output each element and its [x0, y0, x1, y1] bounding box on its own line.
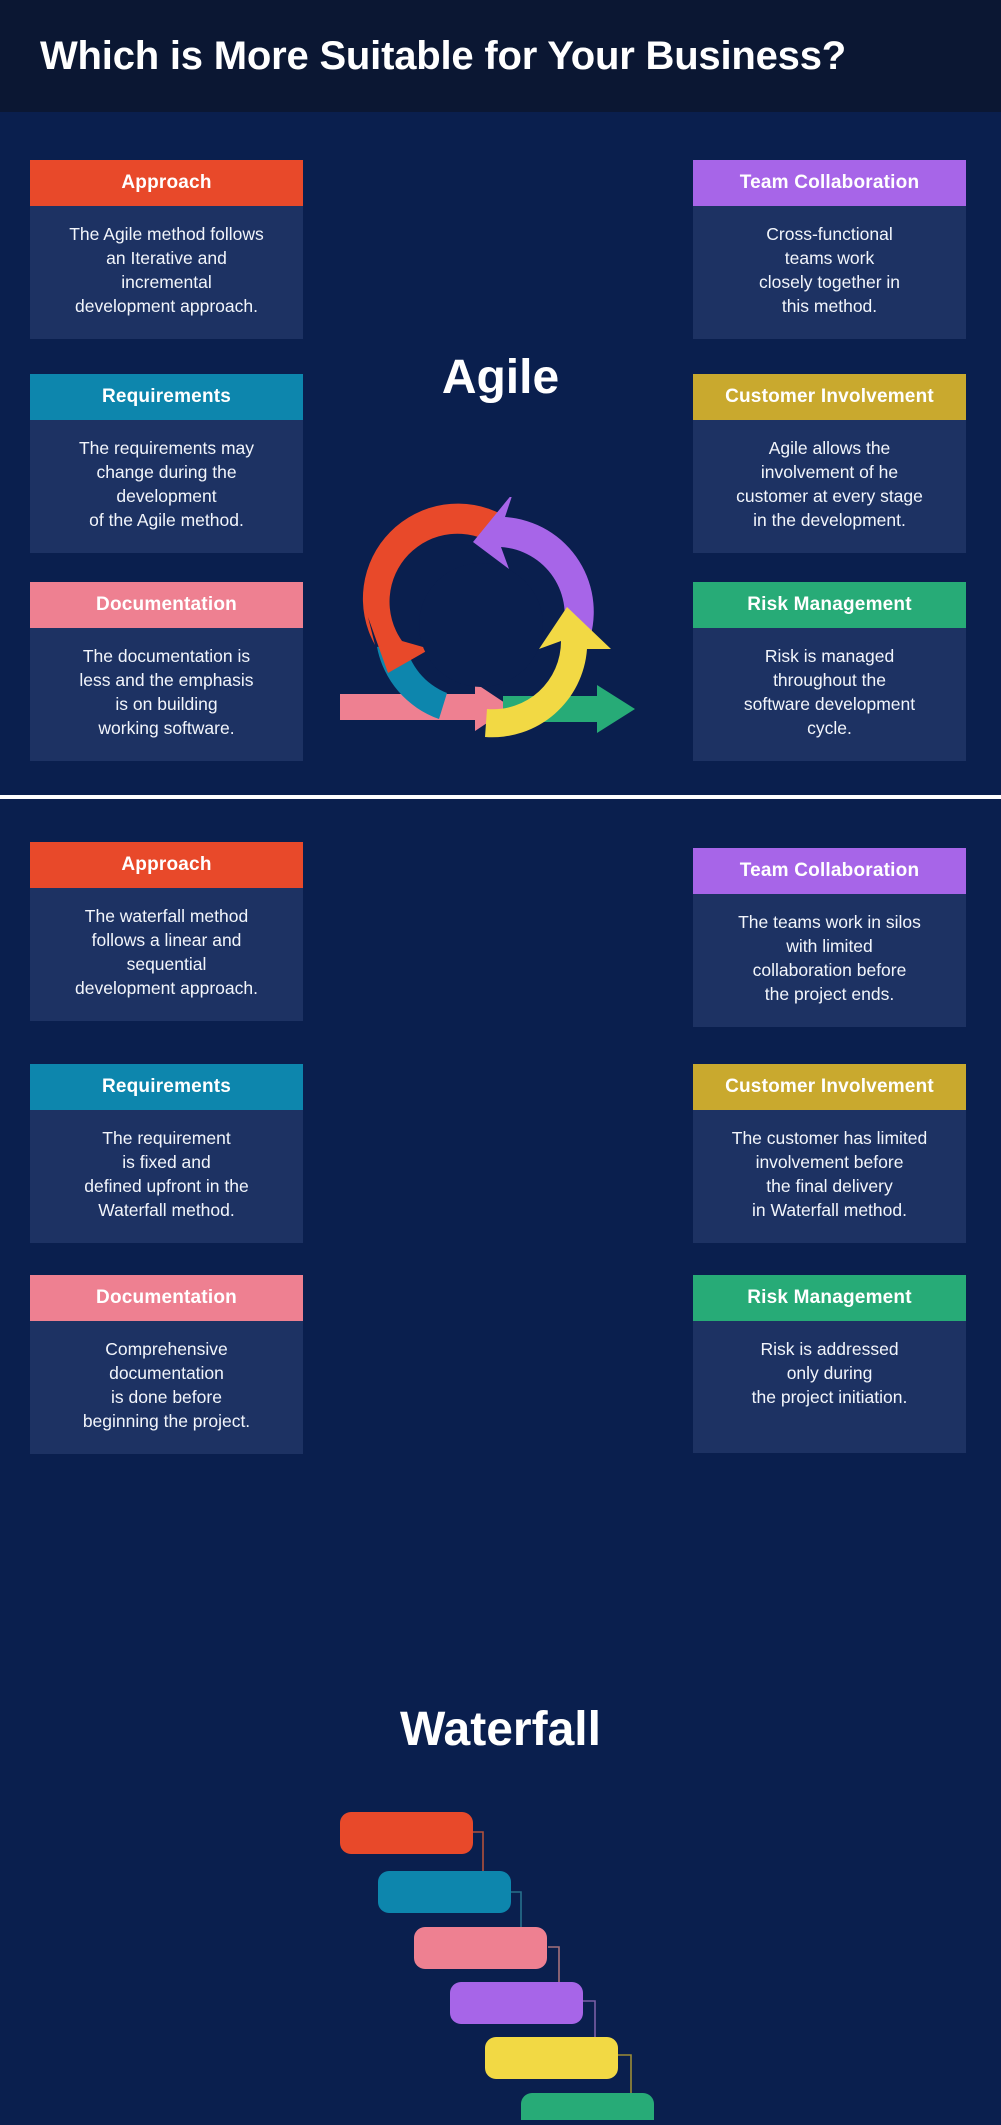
- cycle-center-hole: [419, 563, 543, 687]
- card-agile-documentation[interactable]: Documentation The documentation is less …: [30, 582, 303, 761]
- card-waterfall-approach[interactable]: Approach The waterfall method follows a …: [30, 842, 303, 1021]
- card-header-waterfall-customer-involvement: Customer Involvement: [693, 1064, 966, 1110]
- card-body-agile-requirements: The requirements may change during the d…: [30, 420, 303, 553]
- cascade-step-2: [378, 1871, 511, 1913]
- waterfall-cascade-diagram: [335, 1805, 665, 2120]
- card-body-waterfall-risk-management: Risk is addressed only during the projec…: [693, 1321, 966, 1453]
- agile-section: Agile: [0, 112, 1001, 797]
- waterfall-section: Waterfall: [0, 800, 1001, 1501]
- card-body-agile-documentation: The documentation is less and the emphas…: [30, 628, 303, 761]
- card-header-agile-approach: Approach: [30, 160, 303, 206]
- card-body-waterfall-approach: The waterfall method follows a linear an…: [30, 888, 303, 1021]
- cascade-step-5: [485, 2037, 618, 2079]
- card-agile-customer-involvement[interactable]: Customer Involvement Agile allows the in…: [693, 374, 966, 553]
- card-agile-risk-management[interactable]: Risk Management Risk is managed througho…: [693, 582, 966, 761]
- infographic-page: Which is More Suitable for Your Business…: [0, 0, 1001, 1501]
- card-header-waterfall-documentation: Documentation: [30, 1275, 303, 1321]
- page-header: Which is More Suitable for Your Business…: [0, 0, 1001, 112]
- card-header-agile-documentation: Documentation: [30, 582, 303, 628]
- card-body-waterfall-team-collaboration: The teams work in silos with limited col…: [693, 894, 966, 1027]
- waterfall-heading: Waterfall: [0, 1702, 1001, 1757]
- page-title: Which is More Suitable for Your Business…: [40, 34, 846, 78]
- card-body-agile-approach: The Agile method follows an Iterative an…: [30, 206, 303, 339]
- card-header-waterfall-risk-management: Risk Management: [693, 1275, 966, 1321]
- card-agile-approach[interactable]: Approach The Agile method follows an Ite…: [30, 160, 303, 339]
- card-header-agile-requirements: Requirements: [30, 374, 303, 420]
- card-header-waterfall-team-collaboration: Team Collaboration: [693, 848, 966, 894]
- card-body-waterfall-customer-involvement: The customer has limited involvement bef…: [693, 1110, 966, 1243]
- card-agile-requirements[interactable]: Requirements The requirements may change…: [30, 374, 303, 553]
- card-waterfall-requirements[interactable]: Requirements The requirement is fixed an…: [30, 1064, 303, 1243]
- agile-cycle-diagram: [335, 497, 665, 767]
- card-header-agile-risk-management: Risk Management: [693, 582, 966, 628]
- cascade-step-4: [450, 1982, 583, 2024]
- card-body-waterfall-requirements: The requirement is fixed and defined upf…: [30, 1110, 303, 1243]
- card-agile-team-collaboration[interactable]: Team Collaboration Cross-functional team…: [693, 160, 966, 339]
- card-header-waterfall-requirements: Requirements: [30, 1064, 303, 1110]
- cascade-step-6: [521, 2093, 654, 2120]
- section-divider: [0, 795, 1001, 799]
- card-body-agile-team-collaboration: Cross-functional teams work closely toge…: [693, 206, 966, 339]
- card-body-agile-risk-management: Risk is managed throughout the software …: [693, 628, 966, 761]
- card-waterfall-customer-involvement[interactable]: Customer Involvement The customer has li…: [693, 1064, 966, 1243]
- card-waterfall-team-collaboration[interactable]: Team Collaboration The teams work in sil…: [693, 848, 966, 1027]
- card-waterfall-risk-management[interactable]: Risk Management Risk is addressed only d…: [693, 1275, 966, 1453]
- card-header-waterfall-approach: Approach: [30, 842, 303, 888]
- card-header-agile-team-collaboration: Team Collaboration: [693, 160, 966, 206]
- card-waterfall-documentation[interactable]: Documentation Comprehensive documentatio…: [30, 1275, 303, 1454]
- card-header-agile-customer-involvement: Customer Involvement: [693, 374, 966, 420]
- cascade-step-3: [414, 1927, 547, 1969]
- card-body-agile-customer-involvement: Agile allows the involvement of he custo…: [693, 420, 966, 553]
- cascade-step-1: [340, 1812, 473, 1854]
- card-body-waterfall-documentation: Comprehensive documentation is done befo…: [30, 1321, 303, 1454]
